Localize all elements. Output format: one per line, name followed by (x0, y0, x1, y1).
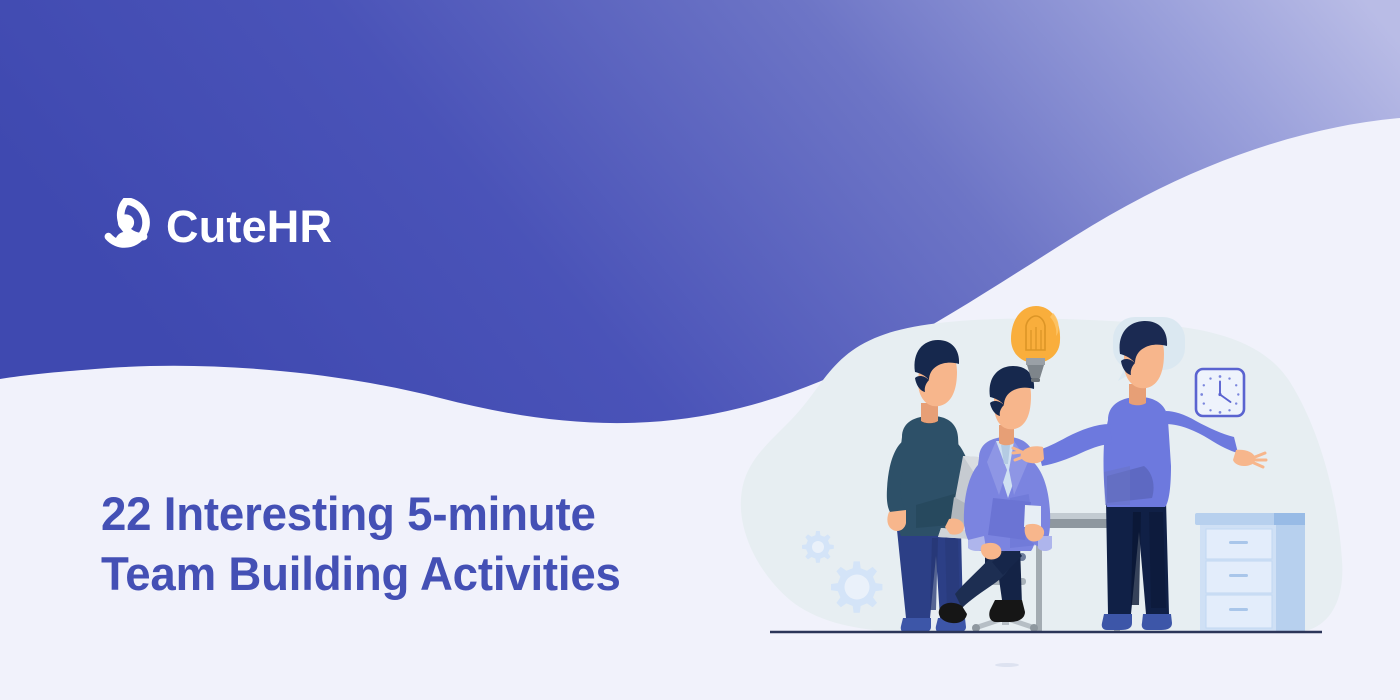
person-in-ring-icon (100, 198, 152, 254)
brand-logo[interactable]: CuteHR (100, 198, 332, 254)
page-title-line-1: 22 Interesting 5-minute (101, 484, 621, 544)
brand-name: CuteHR (166, 204, 332, 249)
page-title-line-2: Team Building Activities (101, 544, 621, 604)
page-title: 22 Interesting 5-minute Team Building Ac… (101, 484, 621, 604)
banner-canvas: CuteHR 22 Interesting 5-minute Team Buil… (0, 0, 1400, 700)
